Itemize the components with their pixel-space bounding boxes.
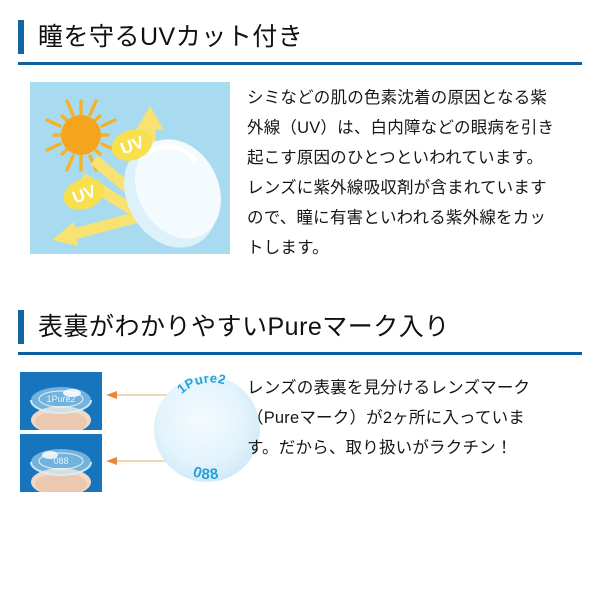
paragraph-line: レンズの表裏を見分けるレンズマーク xyxy=(247,373,592,403)
lens-photo-front: 1Pure2 xyxy=(20,372,102,430)
uv-illustration-svg: UV UV xyxy=(30,82,230,254)
paragraph-line: ので、瞳に有害といわれる紫外線をカッ xyxy=(247,203,592,233)
heading-row: 表裏がわかりやすいPureマーク入り xyxy=(18,306,582,348)
paragraph-line: 起こす原因のひとつといわれています。 xyxy=(247,143,592,173)
paragraph-line: 外線（UV）は、白内障などの眼病を引き xyxy=(247,113,592,143)
paragraph-line: （Pureマーク）が2ヶ所に入っていま xyxy=(247,403,592,433)
paragraph-pure-mark: レンズの表裏を見分けるレンズマーク （Pureマーク）が2ヶ所に入っていま す。… xyxy=(247,373,592,463)
heading-accent-bar xyxy=(18,20,24,54)
heading-accent-bar xyxy=(18,310,24,344)
product-description-page: 瞳を守るUVカット付き xyxy=(0,0,600,600)
heading-row: 瞳を守るUVカット付き xyxy=(18,16,582,58)
pure-mark-illustration: 1Pure2 088 xyxy=(20,372,240,494)
section-heading-uv-cut: 瞳を守るUVカット付き xyxy=(18,16,582,65)
heading-divider-rule xyxy=(18,62,582,65)
paragraph-line: す。だから、取り扱いがラクチン！ xyxy=(247,433,592,463)
lens-mark-bottom: 088 xyxy=(191,463,220,483)
paragraph-line: シミなどの肌の色素沈着の原因となる紫 xyxy=(247,83,592,113)
lens-mark-bottom-text: 088 xyxy=(191,463,220,483)
lens-photo-back-mark: 088 xyxy=(53,456,68,466)
lens-photo-back: 088 xyxy=(20,434,102,492)
heading-divider-rule xyxy=(18,352,582,355)
heading-title-uv-cut: 瞳を守るUVカット付き xyxy=(38,20,303,54)
lens-photo-front-mark: 1Pure2 xyxy=(46,394,75,404)
uv-cut-illustration: UV UV xyxy=(30,82,230,254)
sun-icon xyxy=(61,115,101,155)
lens-photo-back-svg: 088 xyxy=(20,434,102,492)
section-heading-pure-mark: 表裏がわかりやすいPureマーク入り xyxy=(18,306,582,355)
paragraph-line: レンズに紫外線吸収剤が含まれています xyxy=(247,173,592,203)
heading-title-pure-mark: 表裏がわかりやすいPureマーク入り xyxy=(38,310,450,344)
paragraph-uv-cut: シミなどの肌の色素沈着の原因となる紫 外線（UV）は、白内障などの眼病を引き 起… xyxy=(247,83,592,263)
lens-photo-front-svg: 1Pure2 xyxy=(20,372,102,430)
paragraph-line: トします。 xyxy=(247,233,592,263)
